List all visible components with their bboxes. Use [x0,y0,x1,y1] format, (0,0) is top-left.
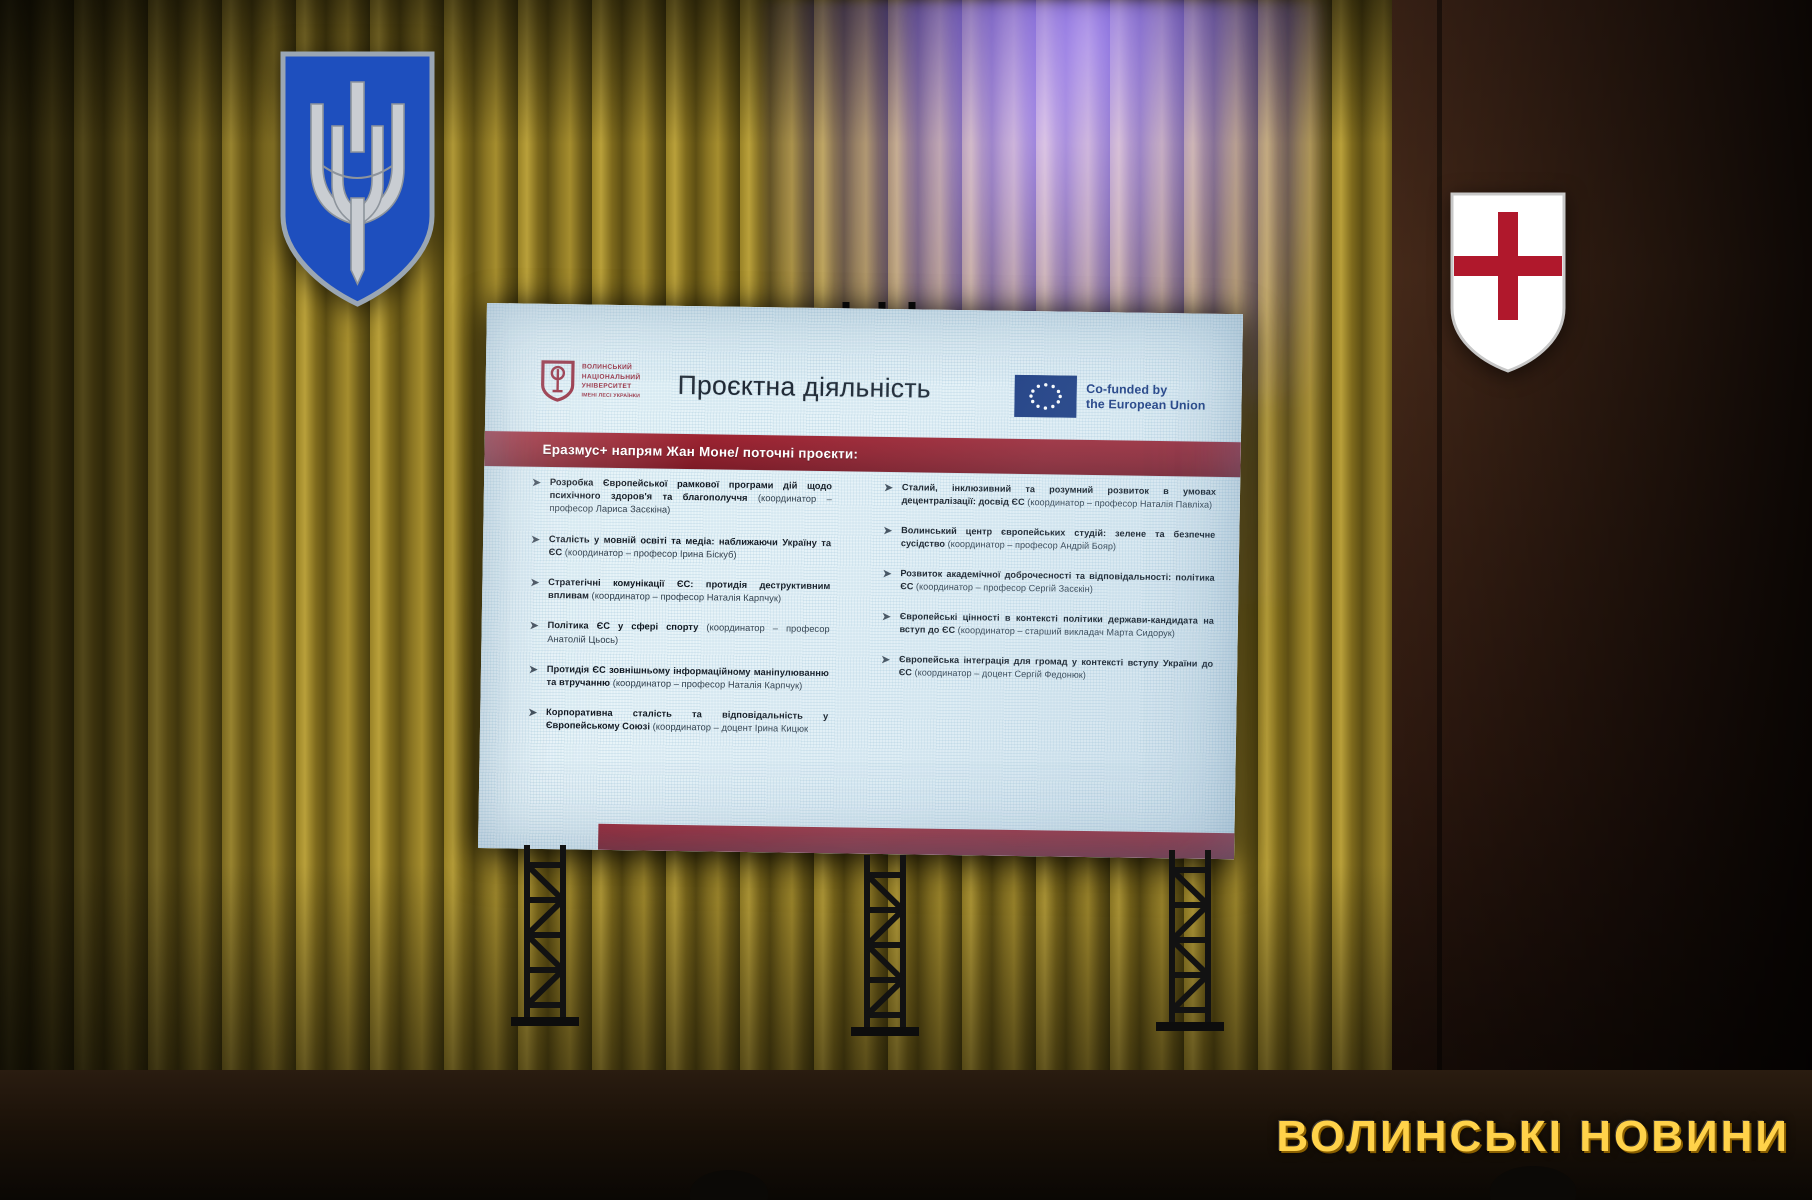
bullet-item: ➤Протидія ЄС зовнішньому інформаційному … [529,663,829,694]
bullet-item: ➤Розробка Європейської рамкової програми… [532,476,833,520]
bullet-item: ➤Сталість у мовній освіті та медіа: набл… [531,532,831,563]
bullet-coordinator: (координатор – доцент Сергій Федонюк) [912,667,1086,680]
bullet-text: Протидія ЄС зовнішньому інформаційному м… [546,663,829,694]
university-logo: ВОЛИНСЬКИЙ НАЦІОНАЛЬНИЙ УНІВЕРСИТЕТ ІМЕН… [540,360,640,403]
bullet-coordinator: (координатор – професор Наталія Карпчук) [589,591,781,604]
bullet-text: Стратегічні комунікації ЄС: протидія дес… [548,576,831,607]
right-shadow-gradient [1352,0,1812,1200]
chevron-right-icon: ➤ [529,663,538,690]
bullet-text: Корпоративна сталість та відповідальніст… [546,706,829,737]
eu-cofunding-badge: Co-funded by the European Union [1015,375,1206,420]
stage-scene: ВОЛИНСЬКИЙ НАЦІОНАЛЬНИЙ УНІВЕРСИТЕТ ІМЕН… [0,0,1812,1200]
led-screen: ВОЛИНСЬКИЙ НАЦІОНАЛЬНИЙ УНІВЕРСИТЕТ ІМЕН… [478,303,1243,859]
bullet-text: Розвиток академічної доброчесності та ві… [900,567,1215,598]
chevron-right-icon: ➤ [529,619,538,646]
bullet-item: ➤Політика ЄС у сфері спорту (координатор… [529,619,829,650]
ukraine-trident-emblem-icon [275,48,440,310]
chevron-right-icon: ➤ [882,610,891,636]
bullet-item: ➤Сталий, інклюзивний та розумний розвито… [884,481,1216,512]
chevron-right-icon: ➤ [528,706,537,733]
bullet-text: Сталість у мовній освіті та медіа: набли… [549,533,832,564]
chevron-right-icon: ➤ [530,576,539,603]
bullet-item: ➤Європейські цінності в контексті політи… [882,610,1214,641]
university-logo-subline: ІМЕНІ ЛЕСІ УКРАЇНКИ [581,391,640,401]
bullet-title: Політика ЄС у сфері спорту [547,620,698,632]
left-shadow-gradient [0,0,300,1200]
bullet-coordinator: (координатор – професор Ірина Біскуб) [562,547,737,560]
bullet-coordinator: (координатор – старший викладач Марта Си… [955,625,1175,638]
chevron-right-icon: ➤ [881,653,890,679]
chevron-right-icon: ➤ [882,567,891,593]
bullet-text: Волинський центр європейських студій: зе… [901,524,1216,555]
slide-header: ВОЛИНСЬКИЙ НАЦІОНАЛЬНИЙ УНІВЕРСИТЕТ ІМЕН… [485,329,1243,436]
chevron-right-icon: ➤ [532,476,541,516]
bullet-coordinator: (координатор – професор Сергій Засєкін) [913,581,1093,594]
university-logo-line-1: ВОЛИНСЬКИЙ [582,362,641,372]
news-watermark: ВОЛИНСЬКІ НОВИНИ [1276,1112,1790,1162]
screen-stand-right [1150,850,1230,1035]
presentation-slide: ВОЛИНСЬКИЙ НАЦІОНАЛЬНИЙ УНІВЕРСИТЕТ ІМЕН… [478,303,1243,859]
bullet-item: ➤Європейська інтеграція для громад у кон… [881,653,1213,684]
screen-stand-center [845,855,925,1040]
bullet-item: ➤Розвиток академічної доброчесності та в… [882,567,1214,598]
section-banner: Еразмус+ напрям Жан Моне/ поточні проєкт… [484,431,1241,477]
bullet-coordinator: (координатор – професор Наталія Павліха) [1025,497,1213,510]
chevron-right-icon: ➤ [531,532,540,559]
eu-badge-line-2: the European Union [1086,397,1206,414]
bullet-coordinator: (координатор – доцент Ірина Кицюк [650,722,808,734]
chevron-right-icon: ➤ [884,481,893,507]
slide-title: Проєктна діяльність [677,370,931,405]
volyn-university-shield-icon [540,360,575,403]
bullet-text: Європейська інтеграція для громад у конт… [899,653,1214,684]
bullet-item: ➤Волинський центр європейських студій: з… [883,524,1215,555]
eu-badge-line-1: Co-funded by [1086,382,1206,399]
section-banner-label: Еразмус+ напрям Жан Моне/ поточні проєкт… [542,442,858,462]
chevron-right-icon: ➤ [883,524,892,550]
volyn-coat-of-arms-icon [1448,190,1568,375]
bullet-columns: ➤Розробка Європейської рамкової програми… [480,475,1241,760]
screen-stand-left [505,845,585,1030]
bullet-coordinator: (координатор – професор Наталія Карпчук) [610,678,802,691]
eu-badge-text: Co-funded by the European Union [1086,382,1206,414]
bullet-column-right: ➤Сталий, інклюзивний та розумний розвито… [858,481,1241,760]
bullet-column-left: ➤Розробка Європейської рамкової програми… [480,475,863,754]
bullet-coordinator: (координатор – професор Андрій Бояр) [945,539,1116,552]
university-logo-text: ВОЛИНСЬКИЙ НАЦІОНАЛЬНИЙ УНІВЕРСИТЕТ ІМЕН… [581,362,640,401]
bullet-item: ➤Стратегічні комунікації ЄС: протидія де… [530,576,830,607]
eu-flag-icon [1015,375,1078,418]
bullet-text: Європейські цінності в контексті політик… [899,610,1214,641]
bullet-text: Політика ЄС у сфері спорту (координатор … [547,619,830,650]
bullet-text: Сталий, інклюзивний та розумний розвиток… [902,481,1217,512]
bullet-item: ➤Корпоративна сталість та відповідальніс… [528,706,828,737]
bullet-text: Розробка Європейської рамкової програми … [549,476,832,520]
